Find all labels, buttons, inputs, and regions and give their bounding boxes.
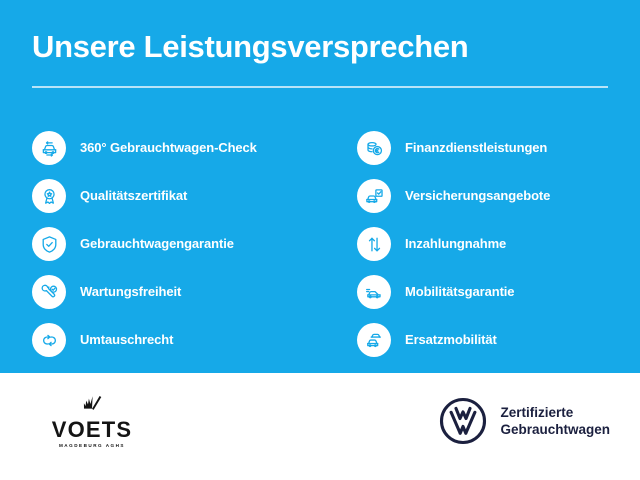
tow-car-icon bbox=[357, 275, 391, 309]
benefits-column-right: Finanzdienstleistungen Versicherungsange… bbox=[0, 124, 640, 364]
dealer-logo: VOETS MAGDEBURG AGHS bbox=[32, 395, 152, 449]
benefit-label: Finanzdienstleistungen bbox=[405, 140, 547, 156]
benefit-item-ersatzmobilitaet: Ersatzmobilität bbox=[357, 316, 640, 364]
benefit-item-inzahlungnahme: Inzahlungnahme bbox=[357, 220, 640, 268]
vw-logo-icon bbox=[439, 397, 487, 445]
vw-certified-lockup: Zertifizierte Gebrauchtwagen bbox=[439, 397, 610, 445]
benefit-item-mobilitaetsgarantie: Mobilitätsgarantie bbox=[357, 268, 640, 316]
benefit-item-finanzdienstleistungen: Finanzdienstleistungen bbox=[357, 124, 640, 172]
coins-euro-icon bbox=[357, 131, 391, 165]
vw-claim-line-2: Gebrauchtwagen bbox=[500, 421, 610, 438]
two-cars-icon bbox=[357, 323, 391, 357]
page-title: Unsere Leistungsversprechen bbox=[32, 28, 468, 66]
dealer-name: VOETS bbox=[52, 418, 133, 441]
benefit-label: Versicherungsangebote bbox=[405, 188, 550, 204]
up-down-arrows-icon bbox=[357, 227, 391, 261]
title-divider bbox=[32, 86, 608, 88]
footer-bar: VOETS MAGDEBURG AGHS Zertifizierte Gebra… bbox=[0, 373, 640, 480]
hero-panel: Unsere Leistungsversprechen 36 bbox=[0, 0, 640, 373]
dealer-tagline: MAGDEBURG AGHS bbox=[59, 442, 125, 449]
vw-claim-text: Zertifizierte Gebrauchtwagen bbox=[500, 404, 610, 438]
vw-claim-line-1: Zertifizierte bbox=[500, 404, 610, 421]
benefit-label: Inzahlungnahme bbox=[405, 236, 506, 252]
voets-crown-icon bbox=[79, 395, 105, 417]
benefit-label: Ersatzmobilität bbox=[405, 332, 497, 348]
car-document-check-icon bbox=[357, 179, 391, 213]
benefits-grid: 360° Gebrauchtwagen-Check Qualitätszerti… bbox=[0, 124, 640, 364]
leistungsversprechen-poster: Unsere Leistungsversprechen 36 bbox=[0, 0, 640, 480]
benefit-item-versicherungsangebote: Versicherungsangebote bbox=[357, 172, 640, 220]
benefit-label: Mobilitätsgarantie bbox=[405, 284, 514, 300]
